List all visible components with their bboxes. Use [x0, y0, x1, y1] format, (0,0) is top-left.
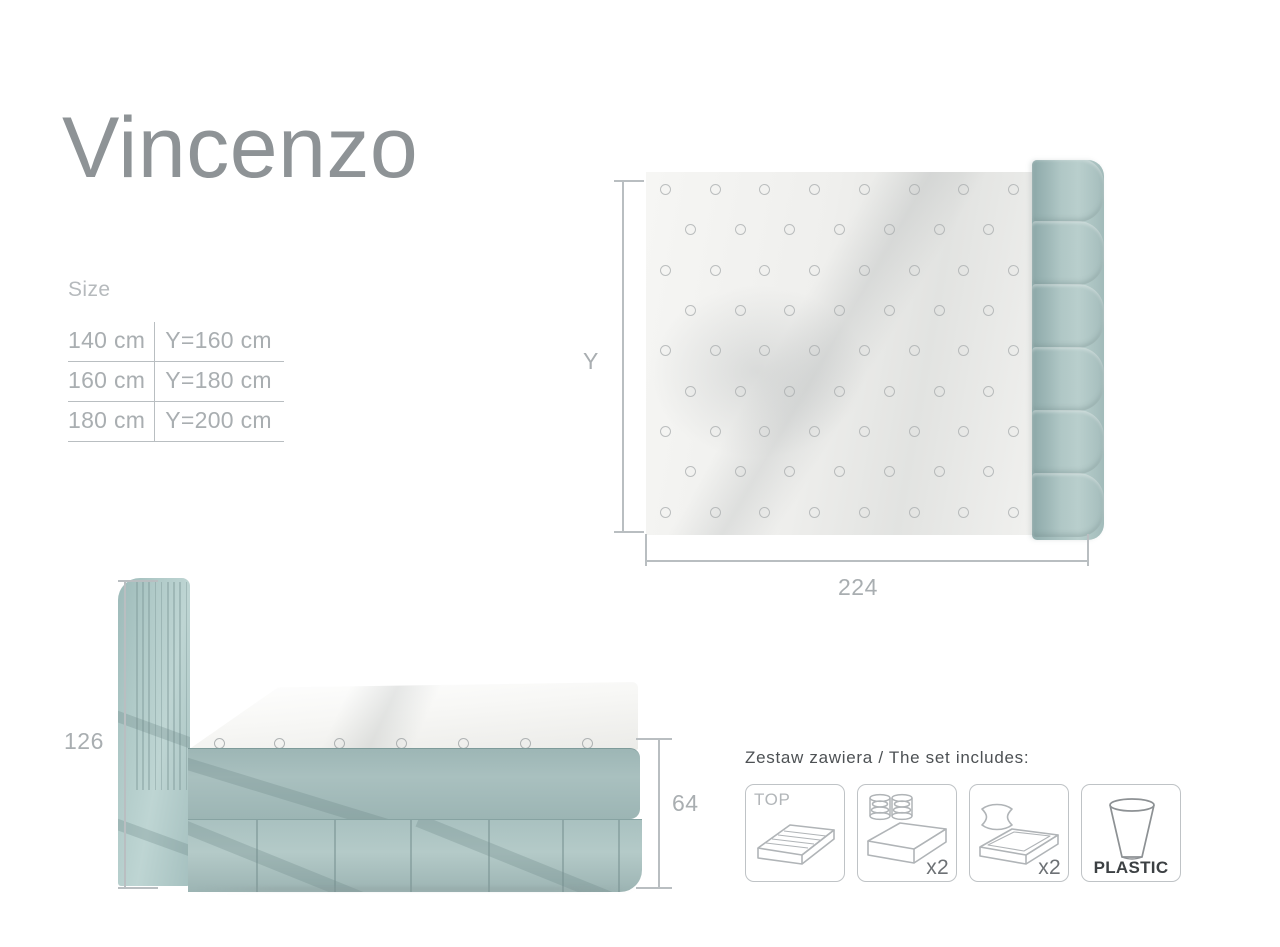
set-includes-icon-list: TOP [745, 784, 1181, 882]
dimension-tick [1087, 534, 1089, 566]
floor-shadow [194, 887, 634, 891]
size-length: Y=160 cm [155, 322, 284, 362]
dimension-line-y [622, 180, 624, 532]
set-includes-section: Zestaw zawiera / The set includes: TOP [745, 748, 1181, 882]
dimension-line-64 [658, 738, 660, 888]
dimension-tick [614, 531, 644, 533]
side-view-mattress-band [188, 748, 640, 819]
spring-mattress-quantity: x2 [926, 856, 949, 880]
table-row: 180 cm Y=200 cm [68, 402, 284, 442]
set-includes-title: Zestaw zawiera / The set includes: [745, 748, 1181, 768]
bed-top-view-diagram [618, 172, 1098, 562]
bed-side-view-diagram [118, 578, 678, 893]
dimension-tick [118, 887, 158, 889]
table-row: 160 cm Y=180 cm [68, 362, 284, 402]
shadow-band [416, 819, 642, 892]
top-view-headboard [1032, 160, 1104, 540]
headboard-ribs [136, 582, 190, 790]
plastic-caption: PLASTIC [1082, 858, 1180, 878]
shadow-band [188, 819, 455, 892]
dimension-label-64: 64 [672, 790, 699, 817]
set-item-spring-mattress: x2 [857, 784, 957, 882]
shadow-band [188, 755, 495, 819]
size-table: 140 cm Y=160 cm 160 cm Y=180 cm 180 cm Y… [68, 322, 284, 442]
size-label: Size [68, 278, 284, 302]
dimension-label-224: 224 [838, 574, 878, 601]
shadow-band [118, 814, 190, 876]
dimension-tick [636, 738, 672, 740]
slatted-base-quantity: x2 [1038, 856, 1061, 880]
side-view-base [188, 819, 642, 892]
topper-mattress-icon [746, 785, 845, 882]
size-width: 160 cm [68, 362, 155, 402]
tufting-buttons [646, 172, 1044, 535]
set-item-plastic-leg: PLASTIC [1081, 784, 1181, 882]
set-item-slatted-base: x2 [969, 784, 1069, 882]
set-item-topper: TOP [745, 784, 845, 882]
table-row: 140 cm Y=160 cm [68, 322, 284, 362]
page-title: Vincenzo [62, 105, 418, 191]
size-length: Y=180 cm [155, 362, 284, 402]
dimension-line-126 [124, 580, 126, 888]
size-width: 180 cm [68, 402, 155, 442]
dimension-tick [614, 180, 644, 182]
dimension-tick [118, 580, 158, 582]
size-section: Size 140 cm Y=160 cm 160 cm Y=180 cm 180… [68, 278, 284, 442]
dimension-label-126: 126 [64, 728, 104, 755]
dimension-tick [636, 887, 672, 889]
dimension-tick [645, 534, 647, 566]
dimension-line-224 [645, 560, 1088, 562]
side-view-headboard [118, 578, 190, 886]
dimension-label-y: Y [583, 348, 599, 375]
top-view-mattress [646, 172, 1044, 535]
size-length: Y=200 cm [155, 402, 284, 442]
product-spec-sheet: Vincenzo Size 140 cm Y=160 cm 160 cm Y=1… [0, 0, 1280, 947]
size-width: 140 cm [68, 322, 155, 362]
